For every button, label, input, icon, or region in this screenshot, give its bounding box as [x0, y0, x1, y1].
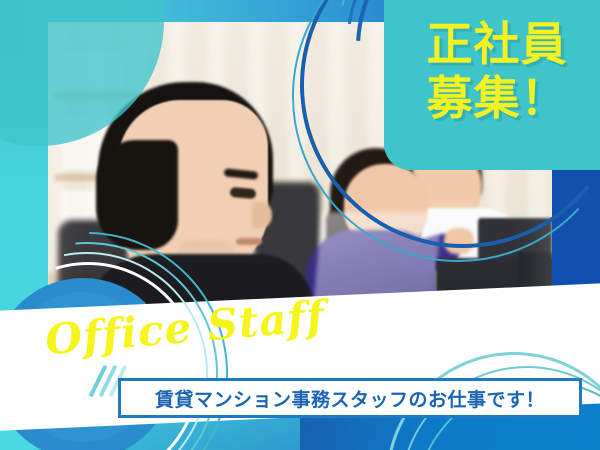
recruitment-banner: 正社員 募集！ Office Staff 賃貸マンション事務スタッフのお仕事です…	[0, 0, 600, 450]
headline-line-2: 募集！	[402, 72, 592, 126]
sub-banner: 賃貸マンション事務スタッフのお仕事です！	[118, 378, 582, 418]
headline-text: 正社員 募集！	[402, 18, 592, 127]
headline-line-1: 正社員	[427, 19, 568, 70]
sub-banner-text: 賃貸マンション事務スタッフのお仕事です！	[155, 385, 545, 412]
